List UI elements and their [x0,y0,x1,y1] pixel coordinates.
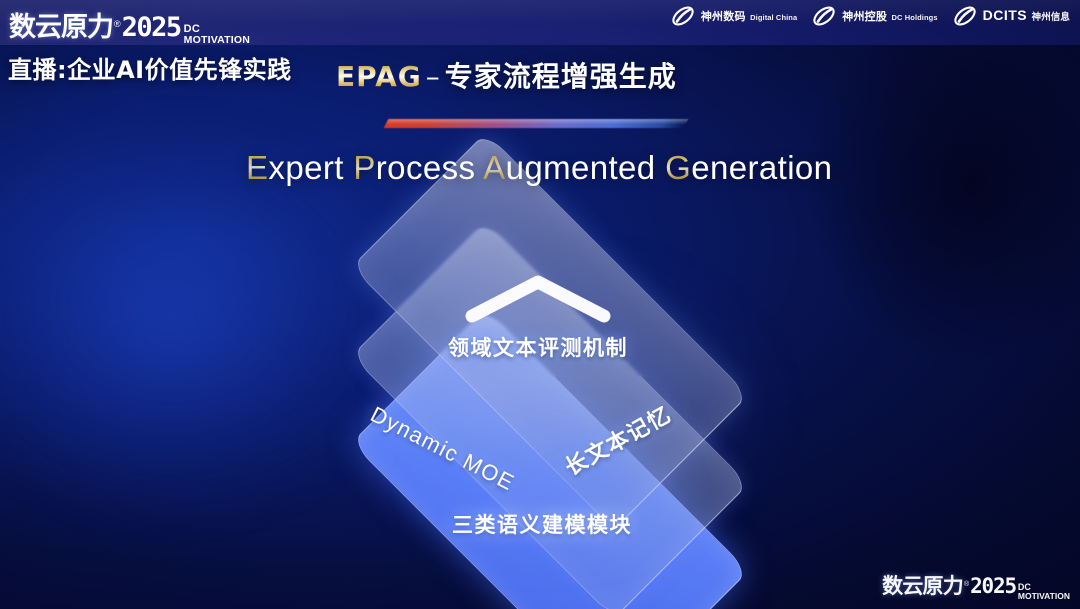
diagram-label-top: 领域文本评测机制 [448,332,628,362]
expansion-cap-p: P [353,149,375,186]
partner-name-en: 神州信息 [1032,12,1070,23]
page-title: EPAG–专家流程增强生成 [336,55,677,95]
corner-watermark: 数云原力 ® 2025 DC MOTIVATION [882,570,1070,603]
gradient-divider [384,119,689,128]
expansion-rest-expert: xpert [268,149,343,186]
brand-year: 2025 [122,12,181,43]
chevron-up-icon [462,272,614,324]
event-brand-logo: 数云原力 ® 2025 DC MOTIVATION [9,5,250,45]
registered-mark-icon: ® [114,19,121,29]
partner-name-cn: 神州控股 [842,11,887,23]
partner-logo-group: 神州数码 Digital China 神州控股 DC Holdings [670,3,1070,29]
live-banner-text: 直播:企业AI价值先锋实践 [8,50,292,85]
brand-name-cn: 数云原力 [9,5,113,44]
expansion-cap-g: G [665,149,691,186]
swirl-logo-icon [952,3,978,29]
title-dash: – [422,60,445,93]
watermark-year: 2025 [970,574,1016,598]
expansion-rest-process: rocess [376,149,476,186]
watermark-name-cn: 数云原力 [882,570,963,600]
watermark-motivation: MOTIVATION [1018,592,1070,600]
expansion-cap-e: E [246,149,268,186]
title-chinese: 专家流程增强生成 [445,60,677,93]
diagram-label-bottom: 三类语义建模模块 [452,509,632,539]
partner-name-cn: DCITS [983,7,1028,23]
swirl-logo-icon [670,3,696,29]
partner-name-en: DC Holdings [892,13,938,22]
partner-name-en: Digital China [750,13,797,22]
slide-canvas: 数云原力 ® 2025 DC MOTIVATION 神州数码 Digital C… [0,0,1080,609]
expansion-rest-generation: eneration [691,149,832,186]
expansion-rest-augmented: ugmented [506,149,656,186]
watermark-registered-icon: ® [964,581,969,588]
swirl-logo-icon [811,3,837,29]
partner-name-cn: 神州数码 [701,11,746,23]
partner-logo-dcits: DCITS 神州信息 [952,3,1070,29]
expansion-cap-a: A [483,149,505,186]
acronym-expansion: Expert Process Augmented Generation [246,149,832,187]
brand-dc: DC [184,24,250,35]
partner-logo-dc-holdings: 神州控股 DC Holdings [811,3,937,29]
partner-logo-digital-china: 神州数码 Digital China [670,3,797,29]
brand-motivation: MOTIVATION [184,35,250,45]
title-acronym: EPAG [336,60,422,93]
